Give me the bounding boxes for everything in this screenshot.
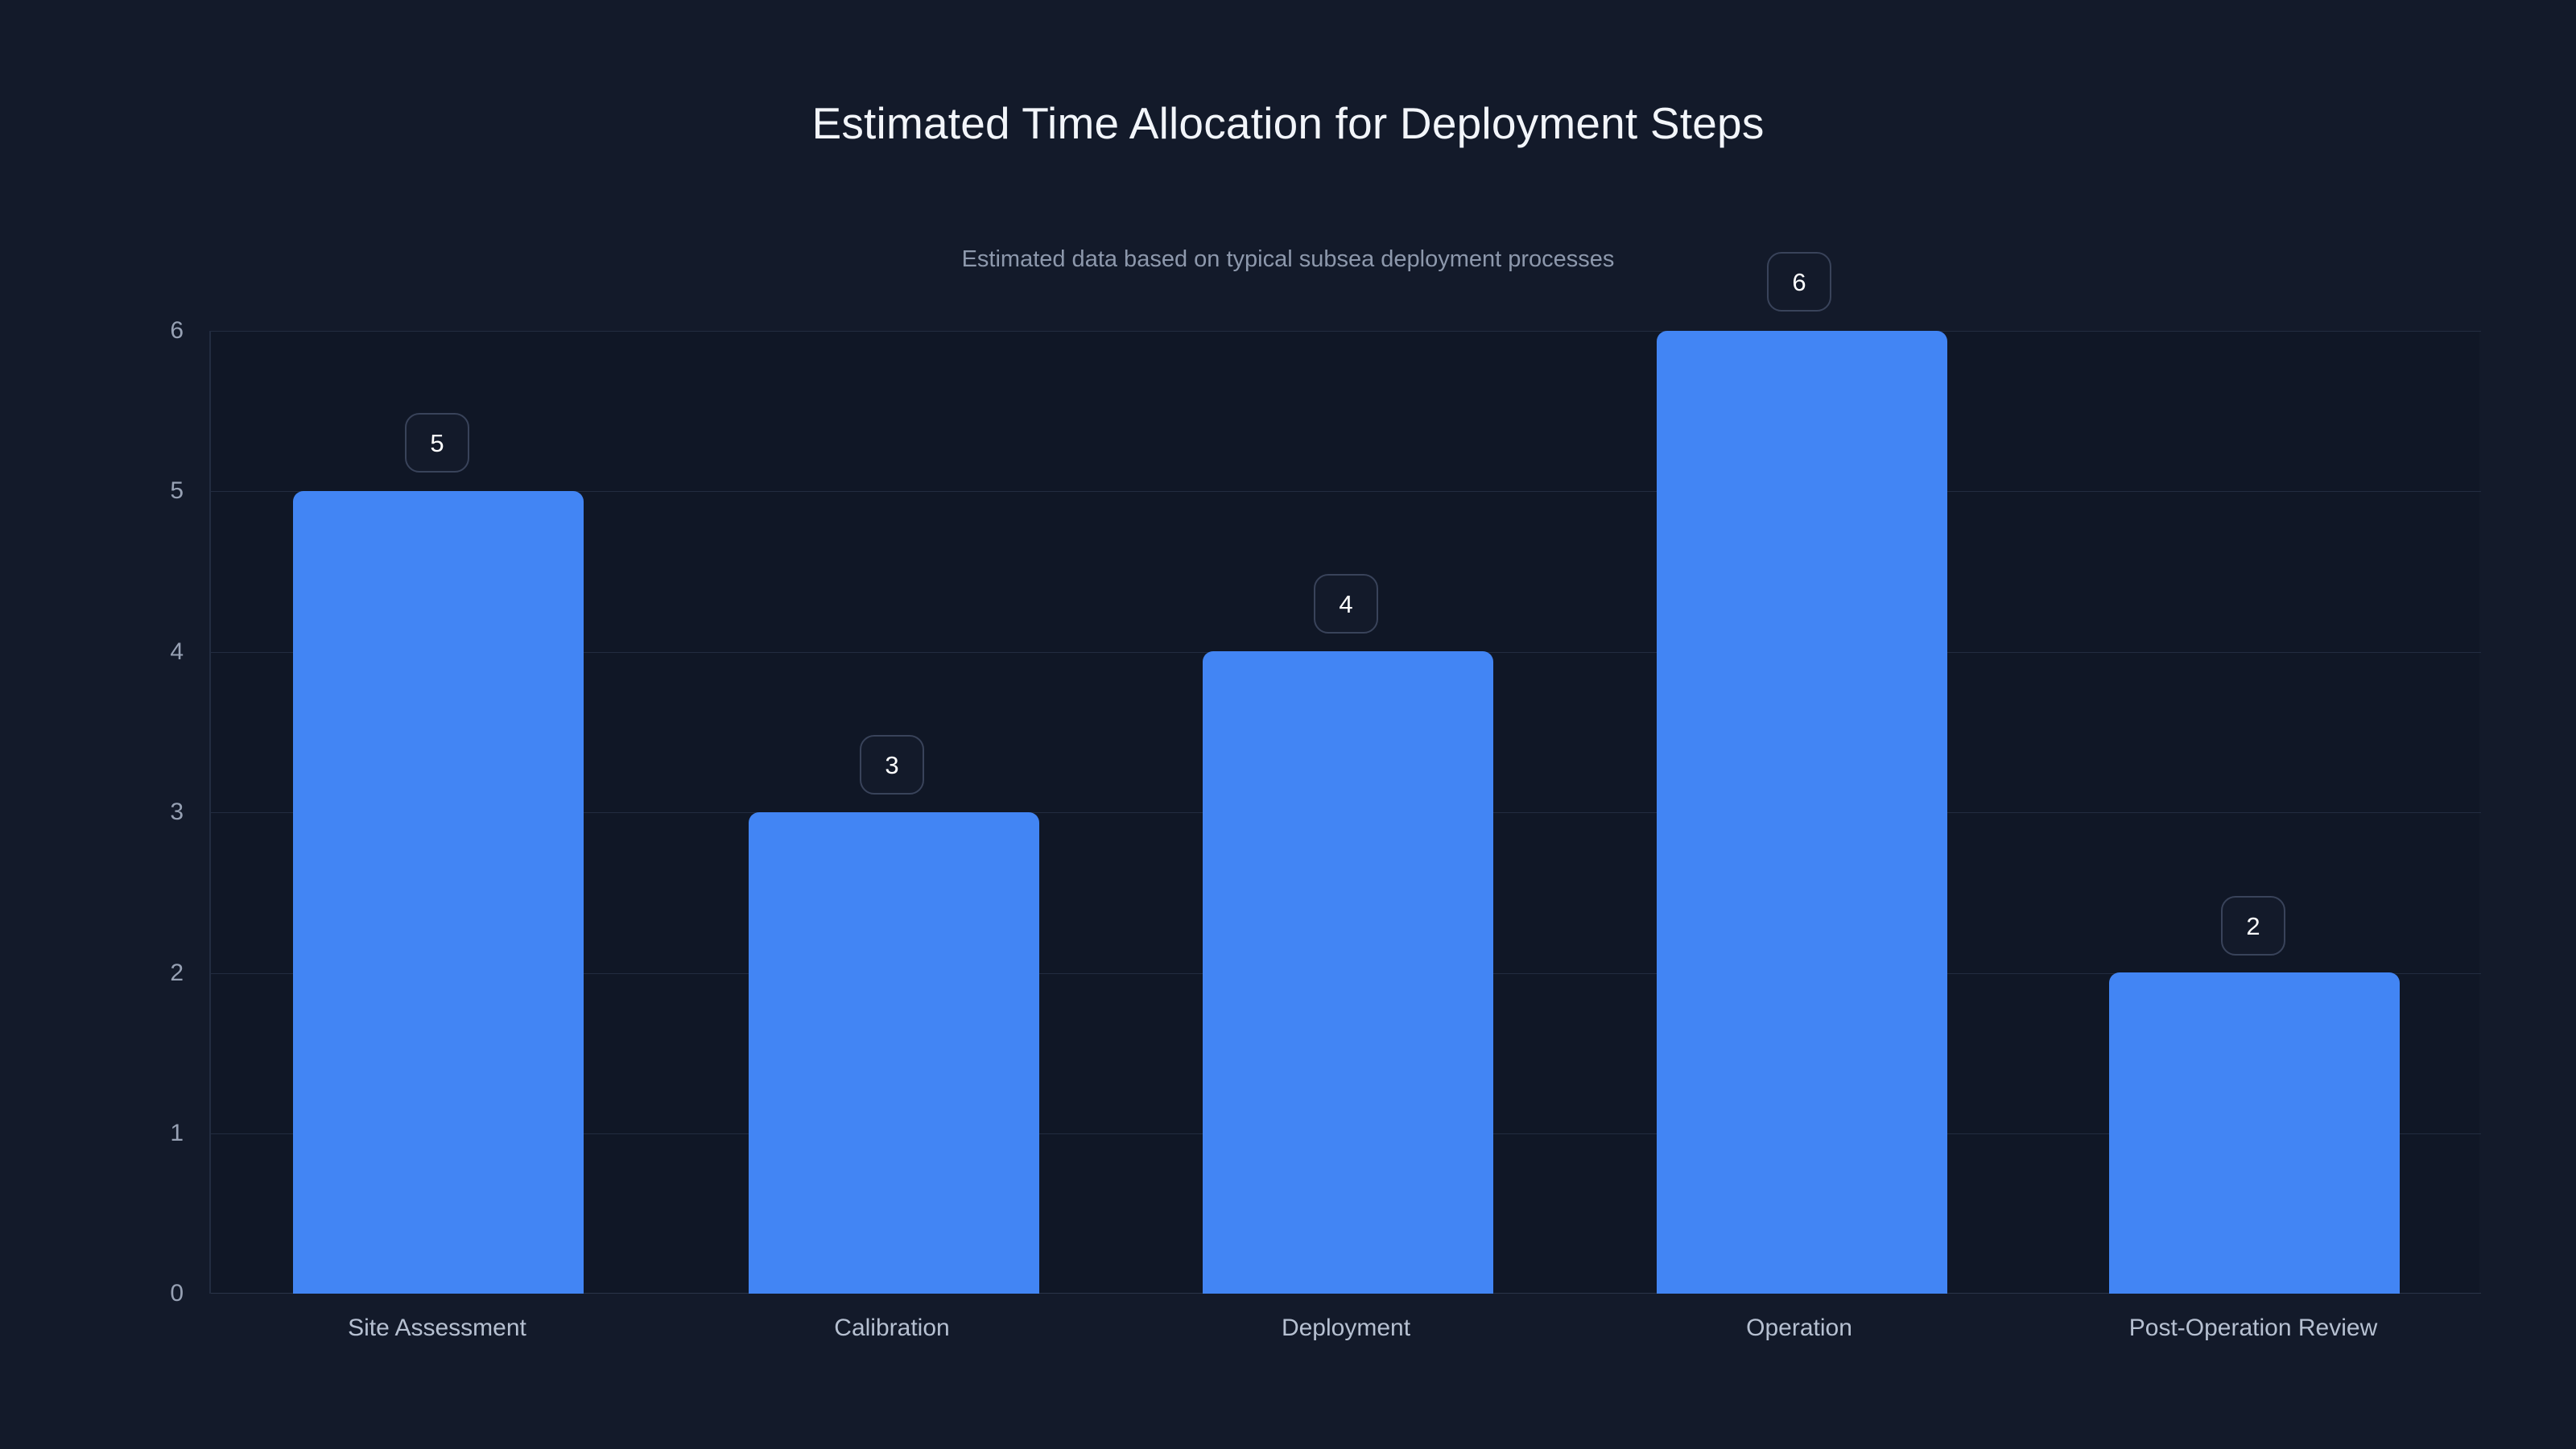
- y-tick-label-3: 3: [97, 800, 184, 824]
- value-badge-site-assessment: 5: [405, 413, 469, 473]
- y-tick-label-0: 0: [97, 1282, 184, 1306]
- x-tick-label-post-operation-review: Post-Operation Review: [2129, 1316, 2377, 1340]
- chart-title: Estimated Time Allocation for Deployment…: [0, 97, 2576, 150]
- bar-operation[interactable]: [1657, 331, 1947, 1294]
- y-tick-label-2: 2: [97, 961, 184, 985]
- x-tick-label-calibration: Calibration: [834, 1316, 949, 1340]
- bar-site-assessment[interactable]: [293, 491, 584, 1294]
- chart-subtitle: Estimated data based on typical subsea d…: [0, 246, 2576, 274]
- y-tick-label-1: 1: [97, 1121, 184, 1146]
- value-badge-operation: 6: [1767, 252, 1831, 312]
- y-tick-label-5: 5: [97, 479, 184, 503]
- plot-area: [209, 331, 2479, 1294]
- x-tick-label-site-assessment: Site Assessment: [348, 1316, 526, 1340]
- y-tick-label-4: 4: [97, 640, 184, 664]
- bar-calibration[interactable]: [749, 812, 1039, 1294]
- bar-post-operation-review[interactable]: [2109, 972, 2400, 1294]
- bar-deployment[interactable]: [1203, 651, 1493, 1294]
- x-tick-label-operation: Operation: [1746, 1316, 1852, 1340]
- value-badge-calibration: 3: [860, 735, 924, 795]
- value-badge-post-operation-review: 2: [2221, 896, 2285, 956]
- bar-chart: Estimated Time Allocation for Deployment…: [0, 0, 2576, 1449]
- value-badge-deployment: 4: [1314, 574, 1378, 634]
- y-tick-label-6: 6: [97, 319, 184, 343]
- gridline-6: [211, 331, 2481, 332]
- x-tick-label-deployment: Deployment: [1282, 1316, 1410, 1340]
